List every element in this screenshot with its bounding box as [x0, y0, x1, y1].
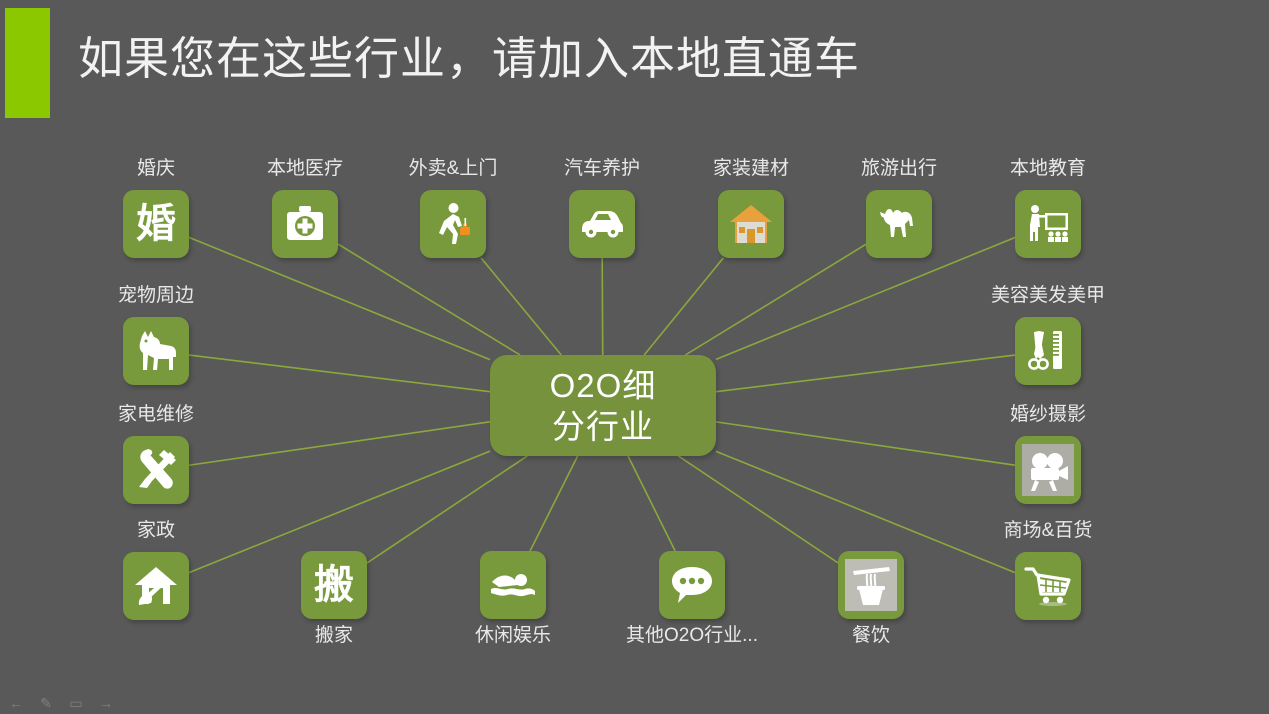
industry-tile[interactable] — [1015, 436, 1081, 504]
industry-tile[interactable] — [659, 551, 725, 619]
wedding-character-icon: 婚 — [136, 202, 176, 246]
industry-tile[interactable] — [866, 190, 932, 258]
connector-line — [481, 258, 561, 355]
industry-tile[interactable]: 搬 — [301, 551, 367, 619]
swimmer-icon — [489, 569, 537, 601]
connector-line — [338, 244, 520, 355]
connector-line — [644, 258, 723, 355]
movie-camera-icon — [1022, 444, 1074, 496]
industry-tile[interactable] — [569, 190, 635, 258]
center-hub-node[interactable]: O2O细 分行业 — [490, 355, 716, 456]
industry-tile[interactable] — [123, 552, 189, 620]
connector-line — [189, 422, 490, 465]
industry-label: 宠物周边 — [46, 285, 266, 307]
house-broom-icon — [133, 565, 179, 607]
industry-tile[interactable] — [1015, 317, 1081, 385]
dog-icon — [133, 329, 179, 373]
industry-tile[interactable] — [420, 190, 486, 258]
connector-line — [367, 456, 527, 563]
industry-tile[interactable] — [838, 551, 904, 619]
industry-tile[interactable] — [123, 317, 189, 385]
industry-label: 本地教育 — [938, 158, 1158, 180]
industry-tile[interactable]: 婚 — [123, 190, 189, 258]
connector-line — [628, 456, 675, 551]
medical-kit-icon — [283, 202, 327, 246]
noodles-icon — [845, 559, 897, 611]
next-slide-arrow-icon[interactable]: → — [98, 695, 114, 711]
connector-line — [602, 258, 603, 355]
industry-tile[interactable] — [480, 551, 546, 619]
connector-line — [685, 244, 866, 355]
slide-menu-icon[interactable]: ▭ — [68, 695, 84, 711]
scissors-comb-icon — [1027, 328, 1069, 374]
industry-tile[interactable] — [1015, 552, 1081, 620]
camel-icon — [876, 204, 922, 244]
connector-line — [189, 355, 490, 392]
connector-line — [716, 422, 1015, 465]
industry-label: 婚纱摄影 — [938, 404, 1158, 426]
delivery-walker-icon — [431, 201, 475, 247]
industry-tile[interactable] — [272, 190, 338, 258]
industry-tile[interactable] — [718, 190, 784, 258]
previous-slide-arrow-icon[interactable]: ← — [8, 695, 24, 711]
shopping-cart-icon — [1024, 565, 1072, 607]
hub-line-1: O2O细 — [550, 365, 657, 406]
industry-tile[interactable] — [1015, 190, 1081, 258]
industry-label: 商场&百货 — [938, 520, 1158, 542]
industry-label: 家电维修 — [46, 404, 266, 426]
connector-line — [678, 456, 838, 563]
presentation-slide: 如果您在这些行业，请加入本地直通车 O2O细 分行业 婚婚庆本地医疗外卖&上门汽… — [0, 0, 1269, 714]
industry-tile[interactable] — [123, 436, 189, 504]
car-icon — [579, 209, 625, 239]
connector-line — [530, 456, 578, 551]
hub-line-2: 分行业 — [552, 406, 654, 447]
industry-label: 家政 — [46, 520, 266, 542]
connector-line — [716, 355, 1015, 392]
industry-label: 美容美发美甲 — [938, 285, 1158, 307]
moving-character-icon: 搬 — [314, 563, 354, 607]
industry-label: 餐饮 — [761, 625, 981, 647]
presentation-toolbar: ←✎▭→ — [0, 692, 1269, 714]
house-icon — [728, 202, 774, 246]
teacher-blackboard-icon — [1026, 203, 1070, 245]
speech-bubble-icon — [670, 565, 714, 605]
pen-annotation-icon[interactable]: ✎ — [38, 695, 54, 711]
wrench-hammer-icon — [134, 448, 178, 492]
